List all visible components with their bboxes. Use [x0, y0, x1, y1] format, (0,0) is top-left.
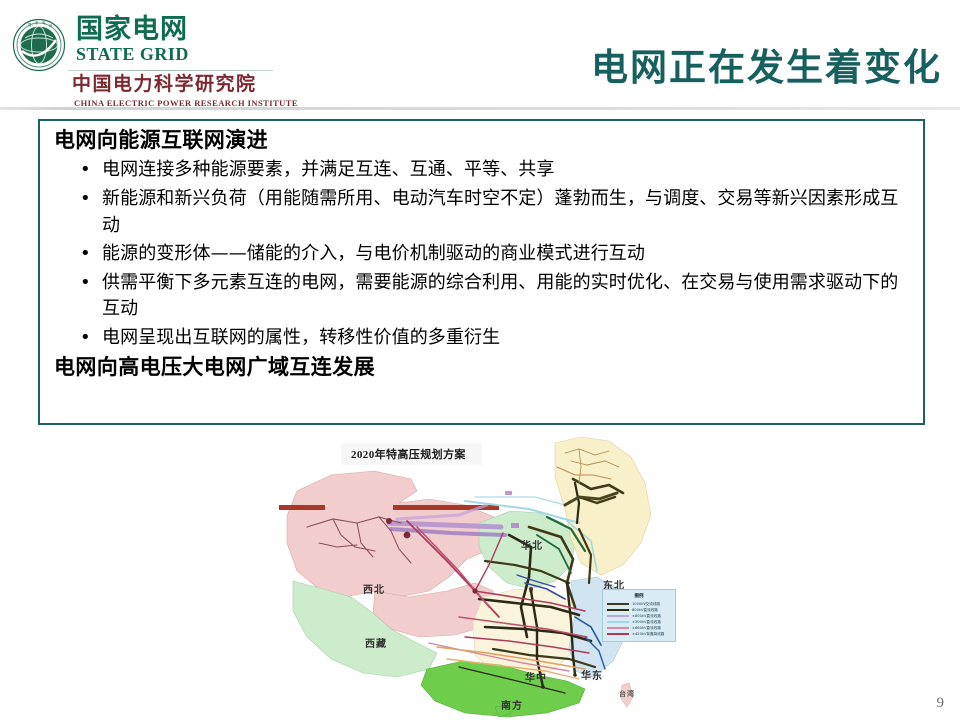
list-item: • 电网呈现出互联网的属性，转移性价值的多重衍生: [50, 325, 913, 352]
bullet-marker-icon: •: [80, 157, 91, 184]
bullet-text: 电网呈现出互联网的属性，转移性价值的多重衍生: [102, 327, 500, 348]
legend-swatch-icon: [607, 621, 629, 623]
legend-swatch-icon: [607, 603, 629, 605]
svg-text:网: 网: [49, 24, 52, 28]
slide-header: 国家电网 国家电网 STATE GRID 中国电力科学研究院 CHINA ELE…: [0, 0, 960, 103]
bullet-marker-icon: •: [80, 270, 91, 297]
bullet-text: 能源的变形体——储能的介入，与电价机制驱动的商业模式进行互动: [102, 243, 645, 264]
section-heading-bottom: 电网向高电压大电网广域互连发展: [50, 354, 913, 380]
slide-title: 电网正在发生着变化: [591, 48, 942, 89]
map-region-label-northwest: 西北: [363, 581, 385, 596]
page-number: 9: [937, 695, 945, 712]
legend-label: 800kV直流线路: [632, 608, 658, 613]
list-item: • 供需平衡下多元素互连的电网，需要能源的综合利用、用能的实时优化、在交易与使用…: [50, 270, 913, 323]
bullet-marker-icon: •: [80, 186, 91, 213]
brand-name-en: STATE GRID: [76, 45, 189, 63]
legend-label: ±800kV直流线路: [632, 614, 661, 619]
state-grid-emblem-icon: 国家电网: [12, 18, 66, 72]
map-region-label-north-china: 华北: [521, 537, 543, 552]
map-region-label-east-china: 华东: [581, 667, 603, 682]
bullet-list: • 电网连接多种能源要素，并满足互连、互通、平等、共享 • 新能源和新兴负荷（用…: [50, 157, 913, 351]
bullet-text: 新能源和新兴负荷（用能随需所用、电动汽车时空不定）蓬勃而生，与调度、交易等新兴因…: [102, 188, 898, 236]
section-heading-top: 电网向能源互联网演进: [50, 127, 913, 153]
map-legend-title: 图例: [607, 593, 671, 599]
legend-swatch-icon: [607, 633, 629, 635]
svg-text:国: 国: [28, 22, 31, 27]
legend-label: ±500kV直流线路: [632, 620, 661, 625]
brand-name-cn: 国家电网: [76, 16, 188, 43]
map-legend: 图例 1000kV交流线路 800kV直流线路 ±800kV直流线路 ±500k…: [602, 589, 676, 642]
china-map-graphic: [279, 431, 679, 720]
uhv-planning-map: 2020年特高压规划方案 东北 华北 西北 西藏 华中 华东 南方 台湾 图例 …: [279, 431, 679, 720]
list-item: • 电网连接多种能源要素，并满足互连、互通、平等、共享: [50, 157, 913, 184]
bullet-text: 供需平衡下多元素互连的电网，需要能源的综合利用、用能的实时优化、在交易与使用需求…: [102, 272, 898, 320]
map-legend-item: ±420kV背靠背线路: [607, 631, 671, 637]
header-divider-line: [0, 107, 960, 110]
bullet-marker-icon: •: [80, 325, 91, 352]
slide: 国家电网 国家电网 STATE GRID 中国电力科学研究院 CHINA ELE…: [0, 0, 960, 720]
legend-swatch-icon: [607, 609, 629, 611]
institute-name-cn: 中国电力科学研究院: [72, 75, 257, 94]
map-region-label-central-china: 华中: [525, 669, 547, 684]
brand-logo-block: 国家电网 国家电网 STATE GRID 中国电力科学研究院 CHINA ELE…: [8, 12, 298, 100]
svg-text:家: 家: [35, 20, 39, 25]
brand-divider: [68, 70, 273, 71]
content-box: 电网向能源互联网演进 • 电网连接多种能源要素，并满足互连、互通、平等、共享 •…: [38, 119, 925, 425]
legend-label: 1000kV交流线路: [632, 602, 660, 607]
legend-label: ±660kV直流线路: [632, 626, 661, 631]
bullet-marker-icon: •: [80, 241, 91, 268]
map-title: 2020年特高压规划方案: [341, 443, 482, 465]
map-region-label-taiwan: 台湾: [619, 689, 635, 699]
map-region-label-tibet: 西藏: [365, 635, 387, 650]
list-item: • 新能源和新兴负荷（用能随需所用、电动汽车时空不定）蓬勃而生，与调度、交易等新…: [50, 186, 913, 239]
list-item: • 能源的变形体——储能的介入，与电价机制驱动的商业模式进行互动: [50, 241, 913, 268]
legend-label: ±420kV背靠背线路: [632, 632, 664, 637]
legend-swatch-icon: [607, 615, 629, 617]
legend-swatch-icon: [607, 627, 629, 629]
bullet-text: 电网连接多种能源要素，并满足互连、互通、平等、共享: [102, 159, 555, 180]
map-region-label-south: 南方: [501, 697, 523, 712]
